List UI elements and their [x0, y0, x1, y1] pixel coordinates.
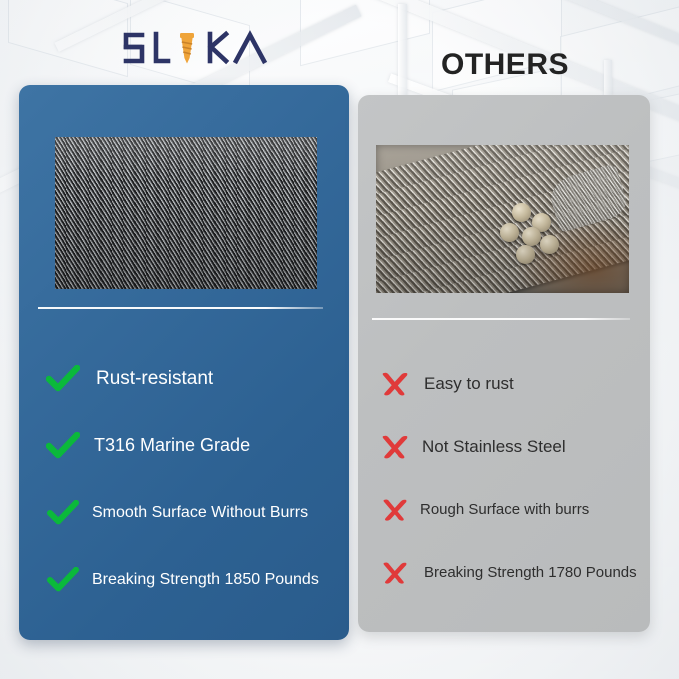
- feature-row: Smooth Surface Without Burrs: [40, 479, 340, 546]
- feature-row: Not Stainless Steel: [376, 415, 641, 478]
- screw-icon: [180, 33, 194, 64]
- feature-label: Easy to rust: [424, 374, 514, 394]
- feature-label: Not Stainless Steel: [422, 437, 566, 457]
- others-feature-list: Easy to rust Not Stainless Steel Rough S…: [376, 352, 641, 604]
- feature-row: Breaking Strength 1780 Pounds: [376, 541, 641, 604]
- others-title: OTHERS: [405, 48, 605, 82]
- photo-gloss: [55, 137, 317, 289]
- cross-icon: [376, 369, 414, 399]
- blika-panel-divider: [38, 307, 323, 309]
- check-icon: [40, 429, 86, 463]
- feature-row: T316 Marine Grade: [40, 412, 340, 479]
- check-icon: [40, 362, 86, 396]
- blika-feature-list: Rust-resistant T316 Marine Grade Smooth …: [40, 345, 340, 613]
- check-icon: [40, 563, 86, 597]
- feature-row: Rust-resistant: [40, 345, 340, 412]
- cross-icon: [376, 432, 414, 462]
- feature-label: Breaking Strength 1850 Pounds: [92, 571, 319, 589]
- feature-row: Rough Surface with burrs: [376, 478, 641, 541]
- feature-label: Smooth Surface Without Burrs: [92, 504, 308, 522]
- feature-label: Rust-resistant: [96, 368, 213, 390]
- cross-icon: [376, 558, 414, 588]
- feature-row: Easy to rust: [376, 352, 641, 415]
- feature-label: Rough Surface with burrs: [420, 501, 589, 518]
- cross-icon: [376, 495, 414, 525]
- blika-logo-mark: [118, 27, 278, 71]
- check-icon: [40, 496, 86, 530]
- others-panel-divider: [372, 318, 630, 320]
- blika-logo: [118, 27, 278, 71]
- photo-gloss: [376, 145, 629, 293]
- feature-label: Breaking Strength 1780 Pounds: [424, 564, 637, 581]
- blika-product-photo: [55, 137, 317, 289]
- others-product-photo: [376, 145, 629, 293]
- feature-row: Breaking Strength 1850 Pounds: [40, 546, 340, 613]
- feature-label: T316 Marine Grade: [94, 435, 250, 456]
